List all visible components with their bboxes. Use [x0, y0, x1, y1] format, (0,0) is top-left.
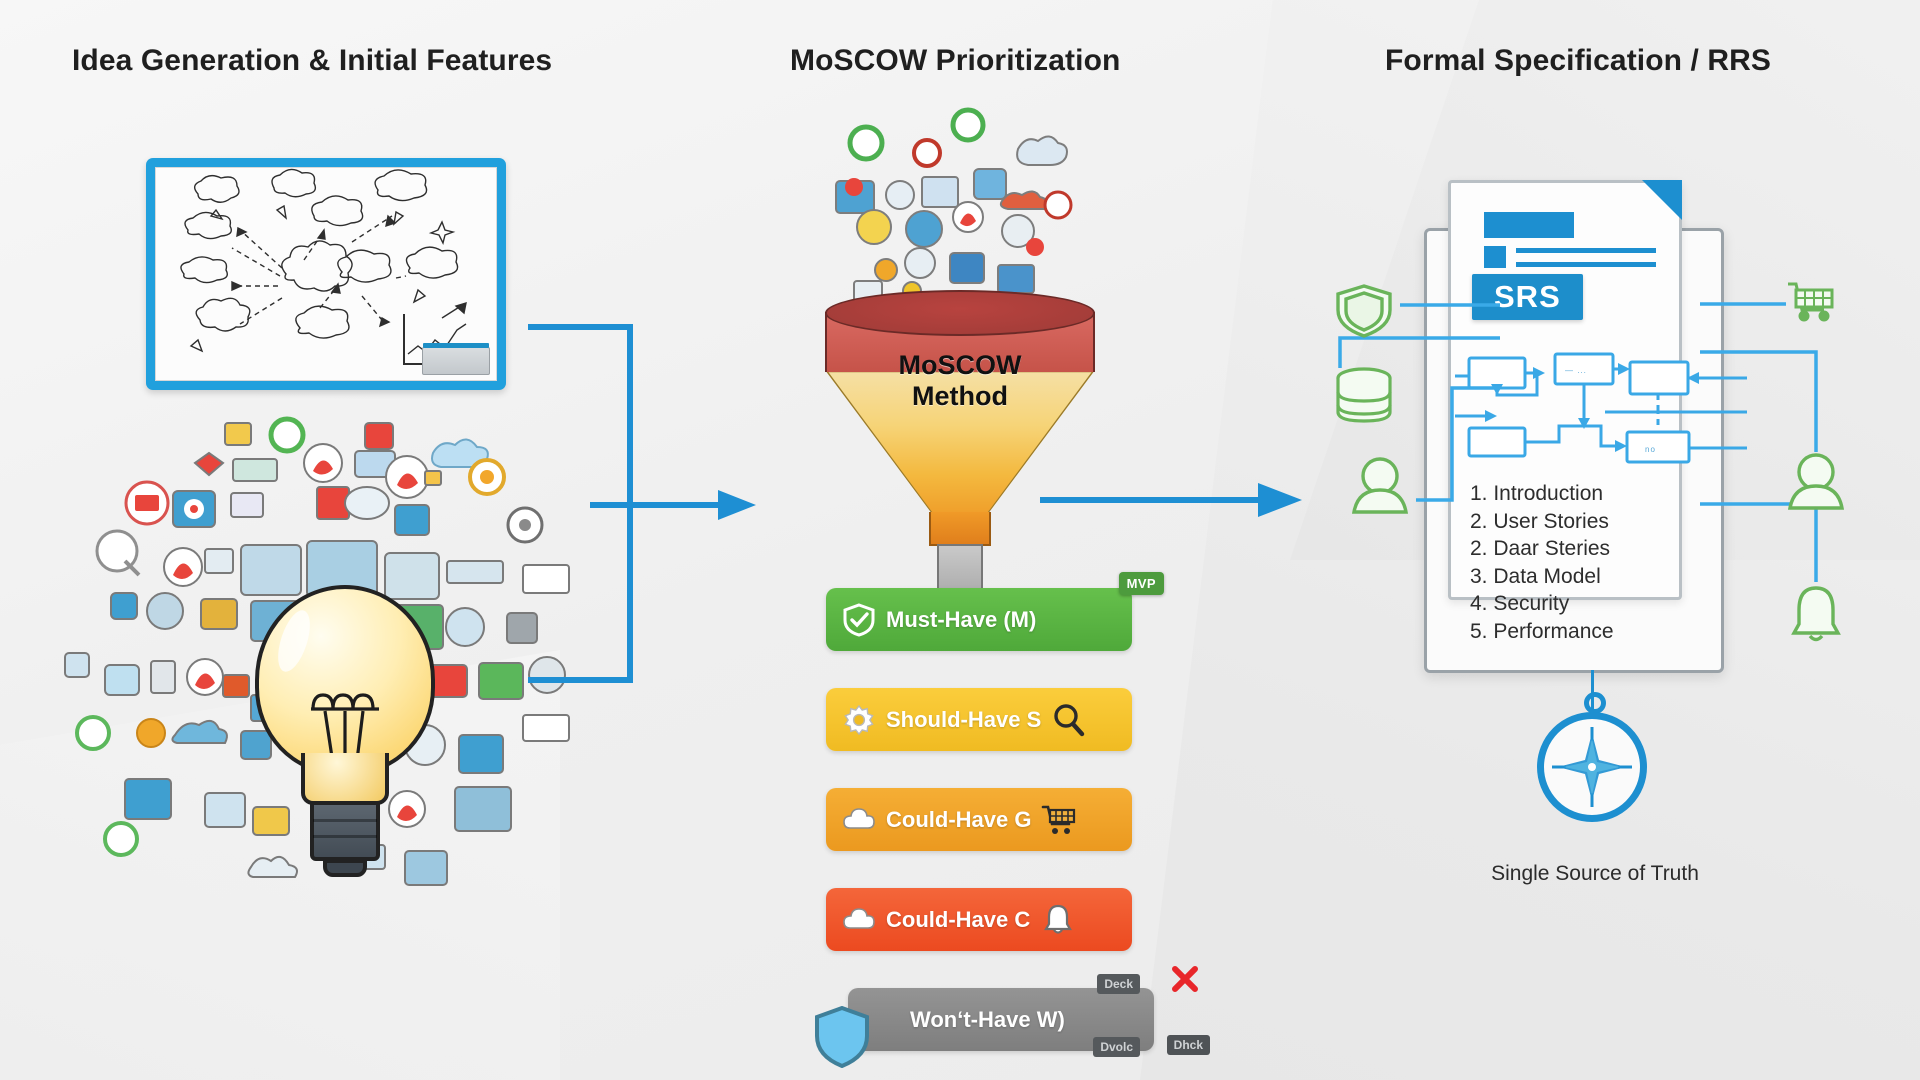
lightbulb-base — [310, 801, 380, 861]
shield-check-icon — [842, 603, 876, 637]
user-icon — [1790, 455, 1842, 508]
priority-bar-wont-have[interactable]: Won‘t-Have W) Deck Dvolc Dhck — [848, 988, 1154, 1051]
cloud-icon — [842, 803, 876, 837]
left-satellite-icons-group — [1320, 280, 1740, 660]
document-header-block — [1484, 212, 1574, 238]
x-mark-icon — [1170, 964, 1200, 994]
funnel-rim — [825, 290, 1095, 336]
funnel-spout — [929, 512, 991, 546]
compass-ring — [1584, 692, 1606, 714]
priority-bar-list: Must-Have (M) MVP Should-Have S Could-Ha… — [826, 588, 1156, 1080]
connector-ideas-to-funnel — [520, 300, 850, 720]
priority-bar-label: Could-Have G — [886, 807, 1031, 833]
wont-have-badge-3: Dhck — [1167, 1035, 1210, 1055]
gear-icon — [842, 703, 876, 737]
funnel-label-line1: MoSCOW — [825, 350, 1095, 381]
cloud-icon — [842, 903, 876, 937]
priority-bar-label: Could-Have C — [886, 907, 1030, 933]
whiteboard-surface — [155, 167, 497, 381]
mvp-badge: MVP — [1119, 572, 1164, 595]
priority-bar-label: Won‘t-Have W) — [910, 1007, 1065, 1033]
arrow-funnel-to-document — [1040, 475, 1310, 535]
funnel-label-line2: Method — [825, 381, 1095, 412]
funnel-input-icons-icon — [830, 105, 1090, 305]
priority-bar-should-have[interactable]: Should-Have S — [826, 688, 1132, 751]
priority-bar-could-have-g[interactable]: Could-Have G — [826, 788, 1132, 851]
wont-have-badge-2: Dvolc — [1093, 1037, 1140, 1057]
lightbulb-tip — [323, 859, 367, 877]
priority-bar-label: Must-Have (M) — [886, 607, 1036, 633]
funnel-label: MoSCOW Method — [825, 350, 1095, 412]
page-fold-corner — [1642, 180, 1682, 220]
search-icon — [1051, 702, 1087, 738]
shield-icon — [1338, 286, 1390, 336]
section-title-moscow: MoSCOW Prioritization — [790, 44, 1120, 78]
section-title-formal-spec: Formal Specification / RRS — [1385, 44, 1771, 78]
document-header-rule-1 — [1516, 248, 1656, 253]
user-icon — [1354, 459, 1406, 512]
bell-icon — [1040, 902, 1076, 938]
priority-bar-could-have-c[interactable]: Could-Have C — [826, 888, 1132, 951]
single-source-of-truth-caption: Single Source of Truth — [1470, 862, 1720, 886]
idea-lightbulb-cluster — [55, 415, 585, 915]
moscow-funnel: MoSCOW Method — [825, 290, 1095, 580]
document-header-square — [1484, 246, 1506, 268]
document-header-rule-2 — [1516, 262, 1656, 267]
brainstorming-whiteboard — [146, 158, 506, 390]
database-icon — [1338, 369, 1390, 421]
compass-icon — [1537, 712, 1647, 822]
shield-blue-icon — [814, 1006, 870, 1068]
wont-have-badge-1: Deck — [1097, 974, 1140, 994]
section-title-idea-generation: Idea Generation & Initial Features — [72, 44, 552, 78]
priority-bar-label: Should-Have S — [886, 707, 1041, 733]
cart-icon — [1041, 802, 1077, 838]
lightbulb-neck — [301, 753, 389, 805]
priority-bar-must-have[interactable]: Must-Have (M) MVP — [826, 588, 1132, 651]
cart-icon — [1788, 284, 1832, 320]
bell-icon — [1794, 588, 1838, 640]
right-satellite-icons-group — [1700, 282, 1920, 642]
whiteboard-marker-tray — [422, 347, 490, 375]
